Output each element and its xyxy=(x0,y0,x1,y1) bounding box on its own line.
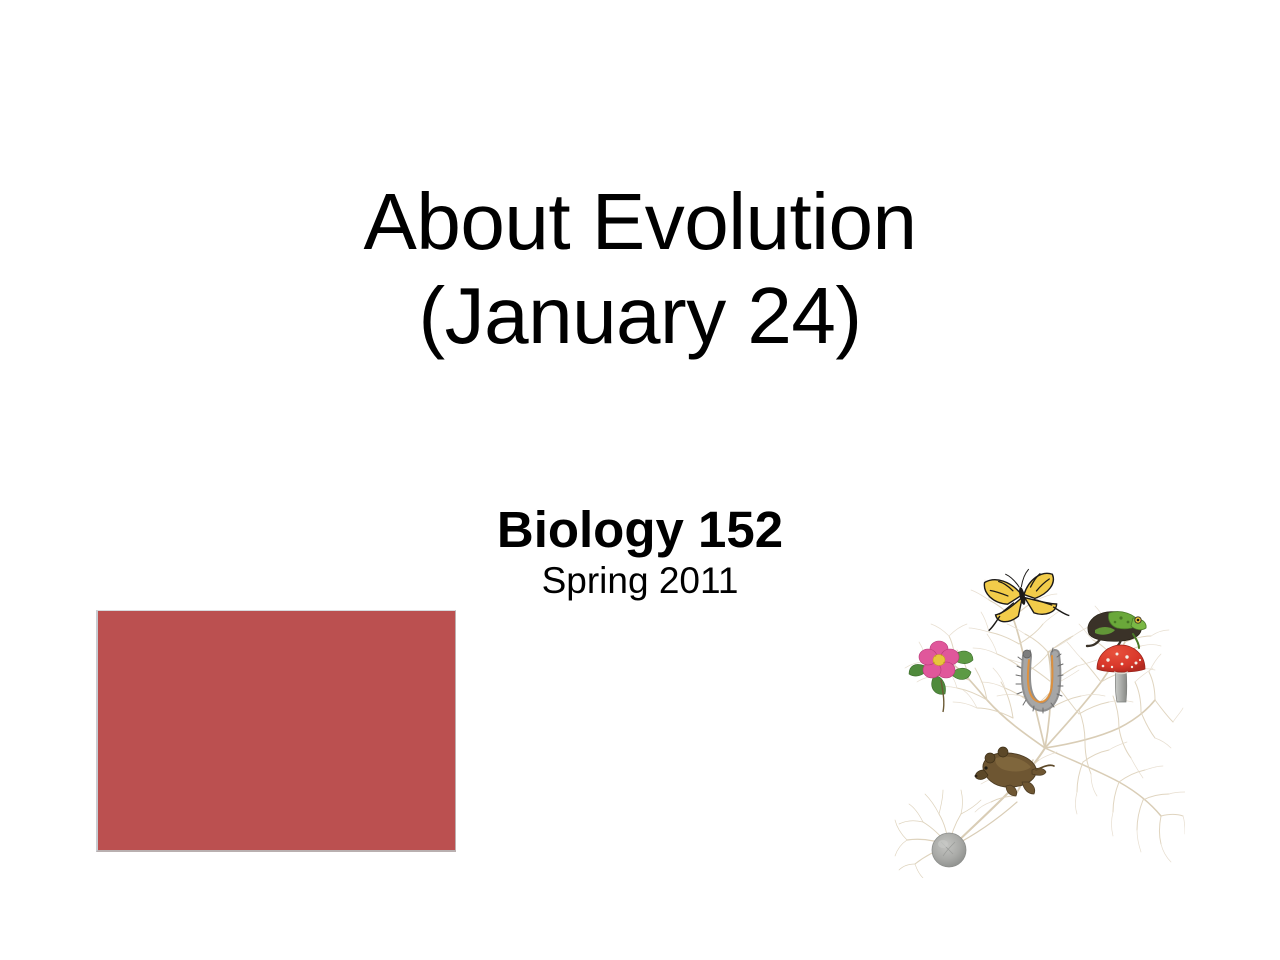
swallowtail-butterfly-icon xyxy=(978,563,1069,633)
ancestral-cell-icon xyxy=(932,833,966,867)
title-line-2: (January 24) xyxy=(0,269,1280,363)
green-frog-icon xyxy=(1087,612,1146,650)
slide-canvas: About Evolution (January 24) Biology 152… xyxy=(0,0,1280,960)
red-amanita-mushroom-icon xyxy=(1097,645,1145,702)
red-rectangle xyxy=(96,610,456,852)
title-line-1: About Evolution xyxy=(0,175,1280,269)
brown-rodent-icon xyxy=(975,747,1054,796)
page-title: About Evolution (January 24) xyxy=(0,175,1280,362)
pink-rose-flower-icon xyxy=(909,641,973,712)
grey-caterpillar-icon xyxy=(1016,648,1063,713)
tree-of-life-figure xyxy=(893,548,1185,878)
